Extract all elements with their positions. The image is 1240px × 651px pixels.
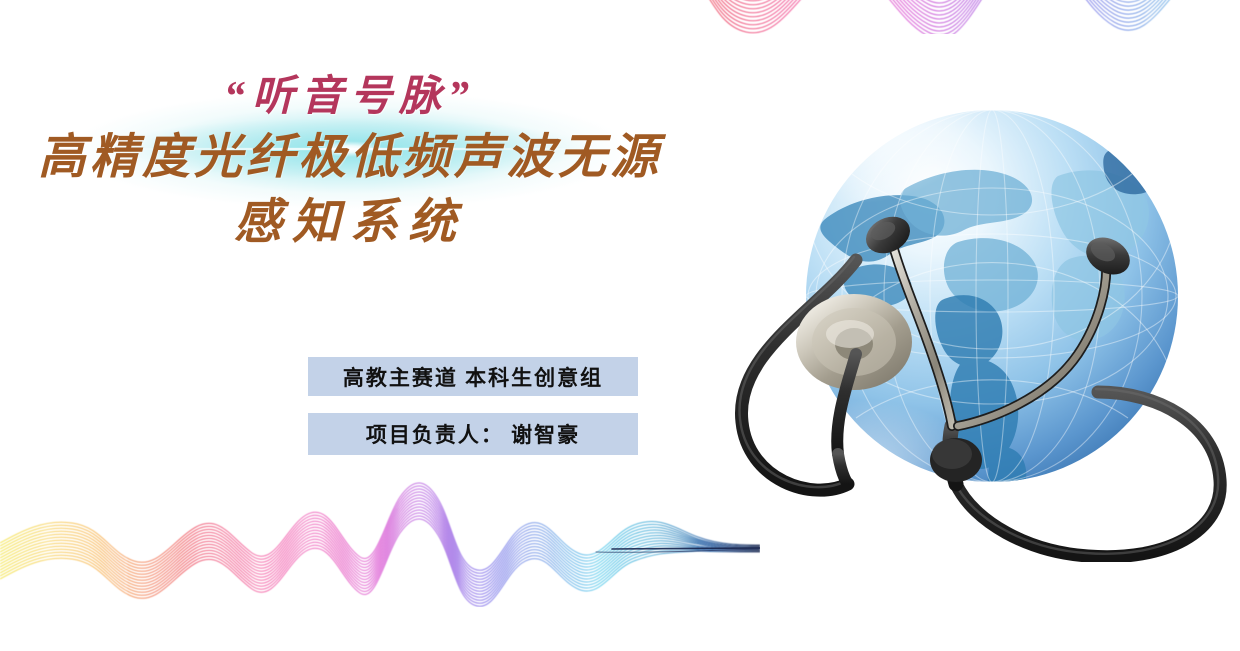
title-quoted-line: “听音号脉” (0, 72, 700, 123)
title-main-line-1: 高精度光纤极低频声波无源 (0, 129, 700, 188)
info-box-track-label: 高教主赛道 本科生创意组 (343, 362, 603, 392)
audio-waveform-bottom (0, 457, 760, 607)
globe-stethoscope-illustration (706, 92, 1240, 562)
info-box-leader: 项目负责人： 谢智豪 (308, 413, 638, 455)
page-title: “听音号脉” 高精度光纤极低频声波无源 感知系统 (0, 72, 700, 252)
audio-waveform-top (560, 0, 1240, 34)
info-box-track: 高教主赛道 本科生创意组 (308, 357, 638, 396)
presentation-slide: “听音号脉” 高精度光纤极低频声波无源 感知系统 高教主赛道 本科生创意组 项目… (0, 0, 1240, 651)
title-main-line-2: 感知系统 (0, 194, 700, 253)
info-box-leader-label: 项目负责人： 谢智豪 (366, 419, 580, 449)
